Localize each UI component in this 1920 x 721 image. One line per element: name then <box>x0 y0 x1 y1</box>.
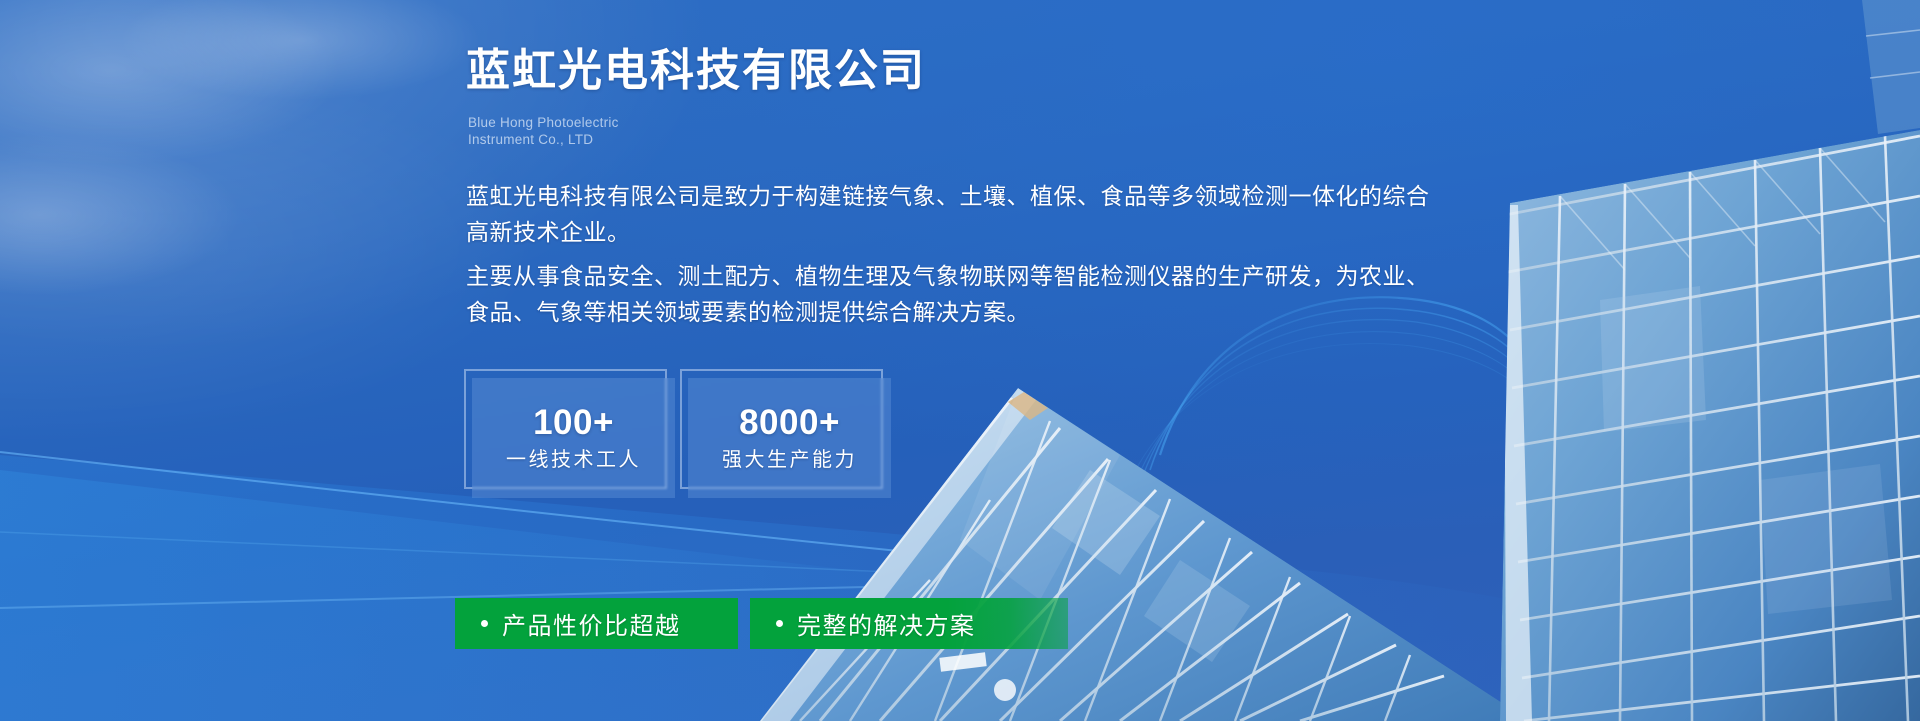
stat-label: 一线技术工人 <box>506 445 641 475</box>
feature-badge-label: 完整的解决方案 <box>797 606 976 641</box>
subtitle-line-1: Blue Hong Photoelectric <box>468 114 619 131</box>
stat-card-group: 100+ 一线技术工人 8000+ 强大生产能力 <box>472 378 891 498</box>
bullet-dot-icon <box>776 620 783 627</box>
stat-card-panel: 8000+ 强大生产能力 <box>688 378 891 498</box>
company-hero-banner: 蓝虹光电科技有限公司 Blue Hong Photoelectric Instr… <box>0 0 1920 721</box>
intro-paragraph-1: 蓝虹光电科技有限公司是致力于构建链接气象、土壤、植保、食品等多领域检测一体化的综… <box>466 178 1451 250</box>
stat-card-workers: 100+ 一线技术工人 <box>472 378 675 498</box>
intro-paragraph-2: 主要从事食品安全、测土配方、植物生理及气象物联网等智能检测仪器的生产研发，为农业… <box>466 258 1451 330</box>
stat-card-panel: 100+ 一线技术工人 <box>472 378 675 498</box>
feature-badge-solution: 完整的解决方案 <box>750 598 1068 649</box>
stat-card-capacity: 8000+ 强大生产能力 <box>688 378 891 498</box>
feature-badge-group: 产品性价比超越 完整的解决方案 <box>455 598 1068 649</box>
company-subtitle-en: Blue Hong Photoelectric Instrument Co., … <box>468 114 619 148</box>
stat-label: 强大生产能力 <box>722 445 857 475</box>
company-title: 蓝虹光电科技有限公司 <box>466 42 926 100</box>
subtitle-line-2: Instrument Co., LTD <box>468 131 619 148</box>
feature-badge-label: 产品性价比超越 <box>502 606 681 641</box>
stat-value: 100+ <box>533 401 614 445</box>
feature-badge-value: 产品性价比超越 <box>455 598 738 649</box>
bullet-dot-icon <box>481 620 488 627</box>
stat-value: 8000+ <box>739 401 840 445</box>
